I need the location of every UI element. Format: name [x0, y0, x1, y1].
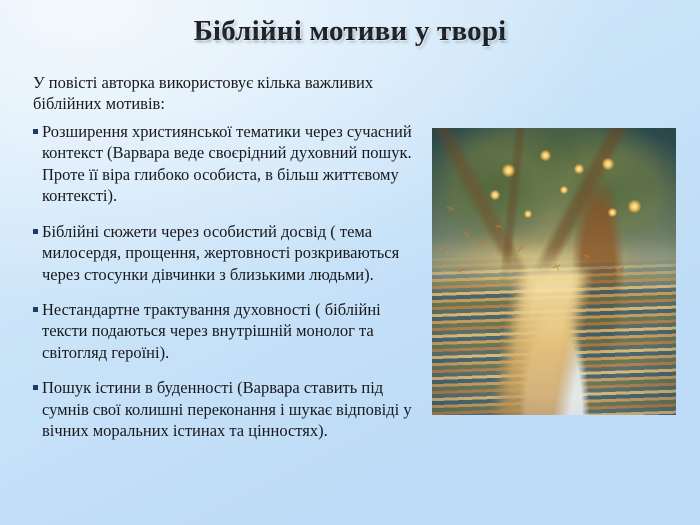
list-item-text: Біблійні сюжети через особистий досвід (…: [42, 222, 399, 284]
square-bullet-icon: [33, 385, 38, 390]
page-title-reflection: Біблійні мотиви у творі: [0, 27, 700, 47]
bullet-list: Розширення християнської тематики через …: [33, 121, 425, 442]
square-bullet-icon: [33, 129, 38, 134]
illustration-vignette: [432, 128, 676, 415]
slide: Біблійні мотиви у творі Біблійні мотиви …: [0, 0, 700, 525]
list-item-text: Пошук істини в буденності (Варвара стави…: [42, 378, 412, 440]
list-item: Нестандартне трактування духовності ( бі…: [33, 299, 425, 363]
list-item-text: Розширення християнської тематики через …: [42, 122, 412, 205]
list-item: Пошук істини в буденності (Варвара стави…: [33, 377, 425, 441]
list-item-text: Нестандартне трактування духовності ( бі…: [42, 300, 381, 362]
intro-paragraph: У повісті авторка використовує кілька ва…: [33, 72, 425, 115]
square-bullet-icon: [33, 307, 38, 312]
list-item: Розширення християнської тематики через …: [33, 121, 425, 207]
page-title: Біблійні мотиви у творі: [0, 16, 700, 46]
slide-illustration: [432, 128, 676, 415]
slide-title-block: Біблійні мотиви у творі Біблійні мотиви …: [0, 16, 700, 67]
slide-body: У повісті авторка використовує кілька ва…: [33, 72, 425, 442]
square-bullet-icon: [33, 229, 38, 234]
list-item: Біблійні сюжети через особистий досвід (…: [33, 221, 425, 285]
